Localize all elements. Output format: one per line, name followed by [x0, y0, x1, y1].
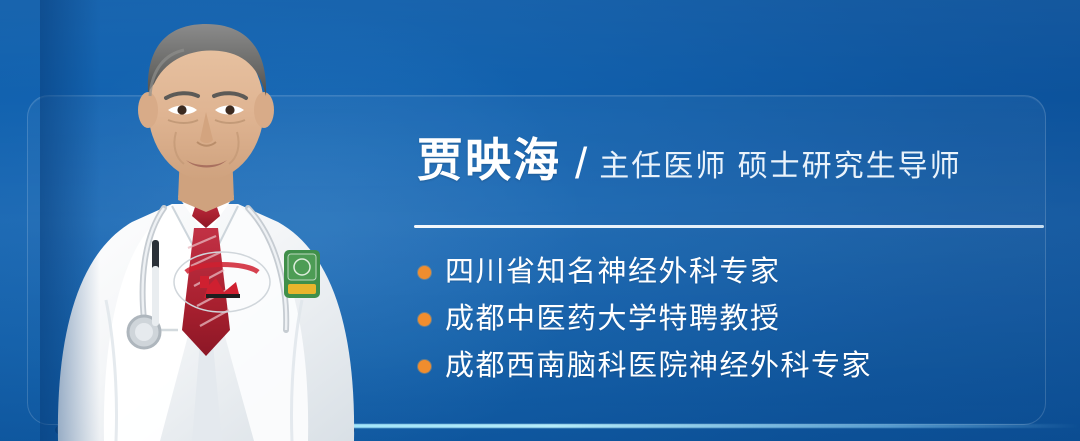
id-badge [284, 250, 320, 298]
bullet-dot-icon [418, 313, 431, 326]
credential-text: 成都西南脑科医院神经外科专家 [445, 352, 872, 381]
doctor-name: 贾映海 [417, 137, 561, 183]
credential-text: 四川省知名神经外科专家 [445, 258, 781, 287]
doctor-head [138, 24, 274, 180]
list-item: 成都中医药大学特聘教授 [418, 296, 872, 343]
credential-text: 成都中医药大学特聘教授 [445, 305, 781, 334]
doctor-titles: 主任医师 硕士研究生导师 [599, 141, 961, 185]
name-separator: / [575, 139, 587, 189]
horizontal-divider [414, 225, 1044, 228]
credentials-list: 四川省知名神经外科专家 成都中医药大学特聘教授 成都西南脑科医院神经外科专家 [418, 249, 872, 390]
doctor-name-row: 贾映海 / 主任医师 硕士研究生导师 [417, 137, 962, 187]
doctor-profile-banner: 贾映海 / 主任医师 硕士研究生导师 四川省知名神经外科专家 成都中医药大学特聘… [0, 0, 1080, 441]
bullet-dot-icon [418, 266, 431, 279]
doctor-info: 贾映海 / 主任医师 硕士研究生导师 四川省知名神经外科专家 成都中医药大学特聘… [412, 0, 1050, 441]
doctor-photo [40, 0, 370, 441]
list-item: 四川省知名神经外科专家 [418, 249, 872, 296]
bullet-dot-icon [418, 360, 431, 373]
list-item: 成都西南脑科医院神经外科专家 [418, 343, 872, 390]
